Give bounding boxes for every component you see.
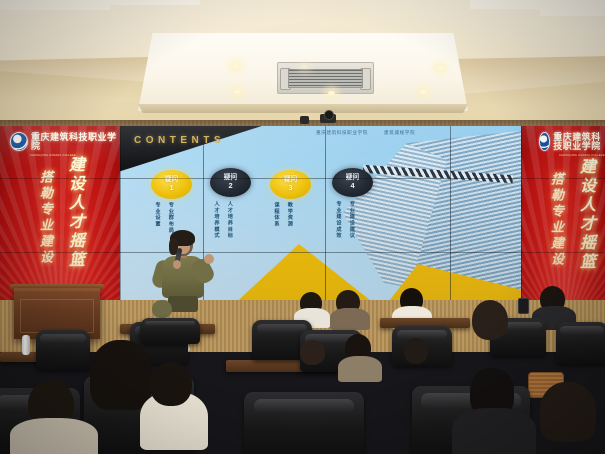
soffit-step-b [110, 0, 200, 5]
bubble-number-3: 3 [288, 184, 292, 192]
slide-item-columns-3: 课程体系 教学资源 [273, 202, 292, 227]
audience-shoulders-front-1 [10, 418, 98, 454]
soffit-step-e [560, 16, 605, 28]
audience-head-front-2 [90, 340, 152, 410]
conference-hall-photo: 重庆建筑科技职业学院 CHONGQING JIANZHU COLLEGE 建设人… [0, 0, 605, 454]
item3-column-2: 教学资源 [286, 202, 291, 227]
led-seam-v5 [521, 126, 522, 302]
item2-column-2: 人才培养目标 [226, 201, 231, 239]
air-conditioner-unit [277, 62, 374, 94]
audience-shoulders-back-2 [330, 308, 370, 330]
chair-mid-1 [36, 330, 90, 370]
ceiling-camera-icon [320, 110, 336, 124]
audience-head-front-6 [540, 382, 596, 442]
slide-item-bubble-4: 疑问 4 [332, 168, 373, 197]
downlight-3 [327, 90, 336, 96]
audience-head-front-4 [472, 300, 508, 340]
soffit-step-d [540, 0, 605, 16]
presenter-lower-body [168, 296, 198, 312]
item3-column-1: 课程体系 [273, 202, 278, 227]
audience-shoulders-mid-2 [338, 356, 382, 382]
downlight-2 [233, 89, 242, 95]
downlight-6 [300, 64, 309, 70]
dept-label-2: 建筑城规学院 [384, 130, 415, 136]
item1-column-1: 专业设置 [154, 202, 159, 234]
bubble-number-2: 2 [228, 182, 232, 190]
downlight-5 [436, 65, 445, 71]
camera-lens [324, 110, 334, 120]
chair-front-3 [244, 392, 364, 454]
presenter-left-hand [173, 260, 181, 269]
college-logo-right: 重庆建筑科技职业学院 CHONGQING JIANZHU COLLEGE [539, 132, 605, 158]
slide-item-columns-4: 专业建设成效 专业建设建议 [335, 201, 354, 239]
soffit-step-c [470, 0, 540, 9]
chair-mid-7 [556, 322, 605, 364]
college-emblem-icon [10, 132, 28, 151]
audience-head-front-3 [150, 362, 192, 406]
led-seam-v1 [120, 126, 121, 302]
ceiling [0, 0, 605, 126]
led-seam-v4 [450, 126, 451, 302]
slide-item-columns-2: 人才培养模式 人才培养目标 [213, 201, 232, 239]
slide-item-bubble-1: 疑问 1 [151, 170, 192, 199]
chair-mid-2b [140, 318, 200, 344]
thermos-cup [22, 335, 30, 355]
slide-item-bubble-2: 疑问 2 [210, 168, 251, 197]
college-emblem-icon-right [539, 132, 550, 151]
slide-item-columns-1: 专业设置 专业群布局 [154, 202, 173, 234]
led-video-wall: 重庆建筑科技职业学院 CHONGQING JIANZHU COLLEGE 建设人… [0, 126, 605, 302]
banner-right-calligraphy-sub: 搭勒专业建设 [547, 172, 566, 268]
slide-heading: CONTENTS [134, 135, 225, 146]
presenter-right-hand [204, 254, 214, 264]
downlight-4 [419, 89, 428, 95]
item4-column-2: 专业建设建议 [348, 201, 353, 239]
podium-front-panel [20, 299, 94, 333]
audience-head-front-row-a [152, 300, 172, 318]
led-seam-h2 [0, 252, 605, 253]
item4-column-1: 专业建设成效 [335, 201, 340, 239]
soffit-step-a [0, 0, 110, 10]
ac-grille [288, 69, 363, 88]
banner-right: 重庆建筑科技职业学院 CHONGQING JIANZHU COLLEGE 建设人… [521, 126, 605, 302]
led-seam-h1 [0, 178, 605, 179]
audience-head-mid-1 [300, 340, 325, 365]
presenter [152, 232, 214, 310]
dept-label-1: 重庆建筑科技职业学院 [316, 130, 368, 136]
item1-column-2: 专业群布局 [167, 202, 172, 234]
downlight-1 [231, 63, 240, 69]
college-name-cn: 重庆建筑科技职业学院 [31, 133, 120, 151]
bubble-number-1: 1 [169, 184, 173, 192]
bubble-number-4: 4 [350, 182, 354, 190]
college-logo-left: 重庆建筑科技职业学院 CHONGQING JIANZHU COLLEGE [10, 132, 120, 158]
smartphone-icon [518, 298, 529, 314]
ceiling-sensor-icon [300, 116, 309, 124]
audience-shoulders-front-5 [452, 408, 536, 454]
audience-head-mid-3 [404, 338, 428, 364]
banner-right-calligraphy-main: 建设人才摇篮 [573, 158, 597, 272]
led-seam-v3 [325, 126, 326, 302]
slide-item-bubble-3: 疑问 3 [270, 170, 311, 199]
ceiling-panel-edge [138, 104, 468, 113]
banner-left: 重庆建筑科技职业学院 CHONGQING JIANZHU COLLEGE 建设人… [0, 126, 120, 302]
college-name-cn-right: 重庆建筑科技职业学院 [553, 133, 605, 151]
